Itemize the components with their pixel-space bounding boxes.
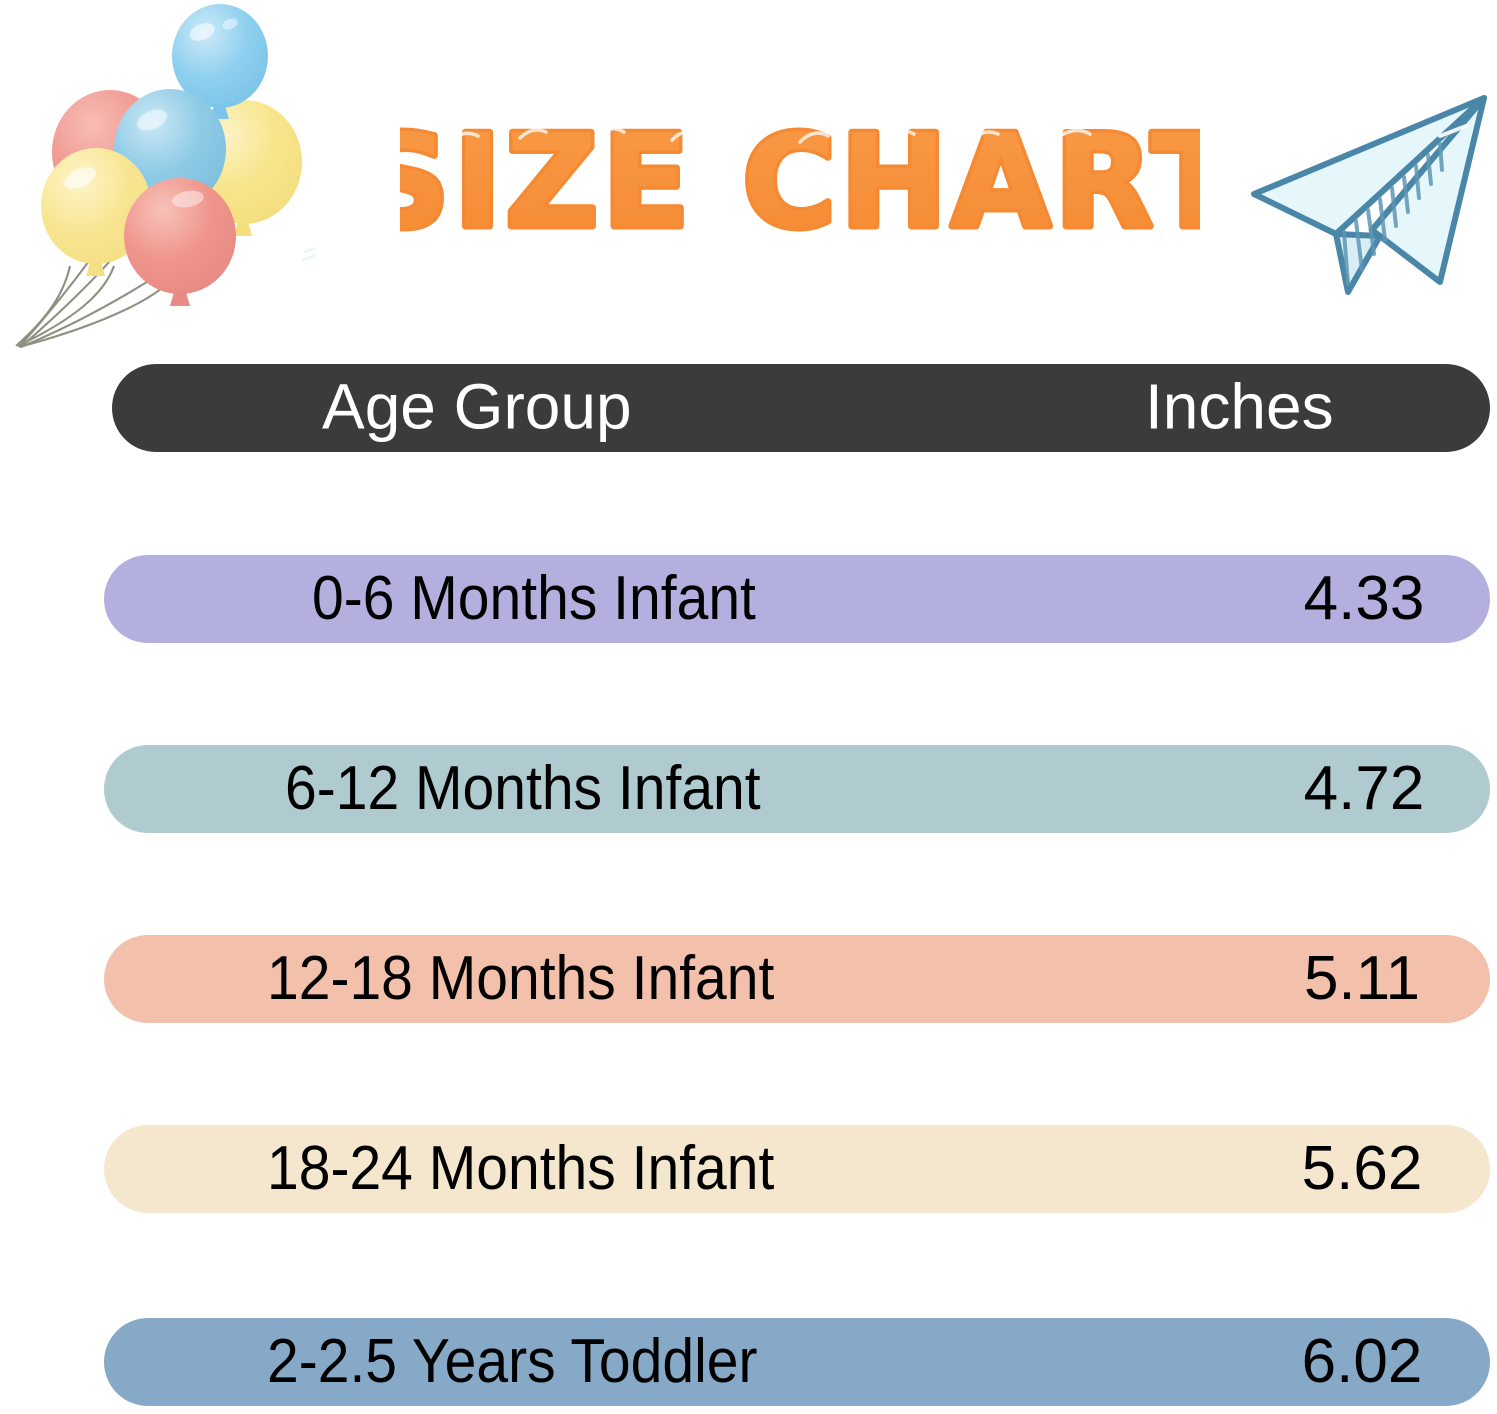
paper-airplane-icon	[1244, 84, 1497, 300]
row-label: 18-24 Months Infant	[267, 1138, 774, 1200]
balloon-bunch-icon	[0, 0, 342, 354]
table-row: 12-18 Months Infant 5.11	[104, 935, 1490, 1023]
size-chart-page: SIZE CHART	[0, 0, 1497, 1414]
row-label: 12-18 Months Infant	[267, 948, 774, 1010]
row-value: 4.72	[1204, 758, 1497, 820]
table-header-row: Age Group Inches	[112, 364, 1490, 452]
column-header-age-group: Age Group	[322, 375, 632, 439]
column-header-inches: Inches	[1145, 375, 1334, 439]
table-row: 0-6 Months Infant 4.33	[104, 555, 1490, 643]
row-value: 5.11	[1202, 948, 1497, 1010]
row-value: 4.33	[1204, 568, 1497, 630]
row-label: 6-12 Months Infant	[285, 758, 761, 820]
row-label: 0-6 Months Infant	[312, 568, 756, 630]
table-row: 18-24 Months Infant 5.62	[104, 1125, 1490, 1213]
row-value: 6.02	[1202, 1331, 1497, 1393]
page-title: SIZE CHART	[400, 96, 1200, 266]
row-value: 5.62	[1202, 1138, 1497, 1200]
table-row: 6-12 Months Infant 4.72	[104, 745, 1490, 833]
row-label: 2-2.5 Years Toddler	[267, 1331, 758, 1393]
table-row: 2-2.5 Years Toddler 6.02	[104, 1318, 1490, 1406]
